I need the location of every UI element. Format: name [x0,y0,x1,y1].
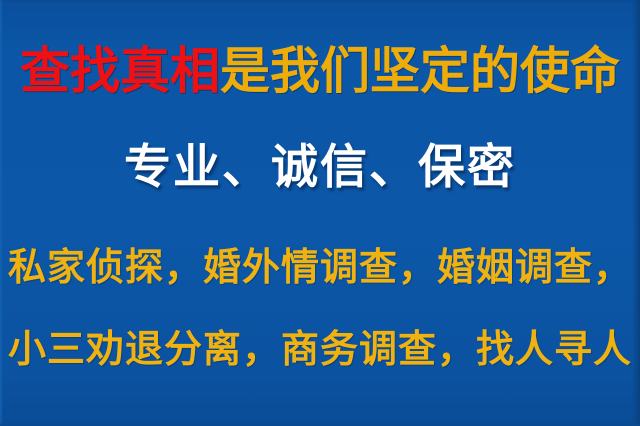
services-line-2: 小三劝退分离，商务调查，找人寻人 [0,330,640,368]
headline-emphasis-text: 查找真相 [20,42,220,100]
banner-content: 查找真相是我们坚定的使命 专业、诚信、保密 私家侦探，婚外情调查，婚姻调查， 小… [0,0,640,426]
services-line-1: 私家侦探，婚外情调查，婚姻调查， [0,248,640,286]
advertisement-banner: 查找真相是我们坚定的使命 专业、诚信、保密 私家侦探，婚外情调查，婚姻调查， 小… [0,0,640,426]
headline: 查找真相是我们坚定的使命 [0,46,640,96]
slogan-text: 专业、诚信、保密 [0,144,640,191]
headline-rest-text: 是我们坚定的使命 [220,42,620,100]
